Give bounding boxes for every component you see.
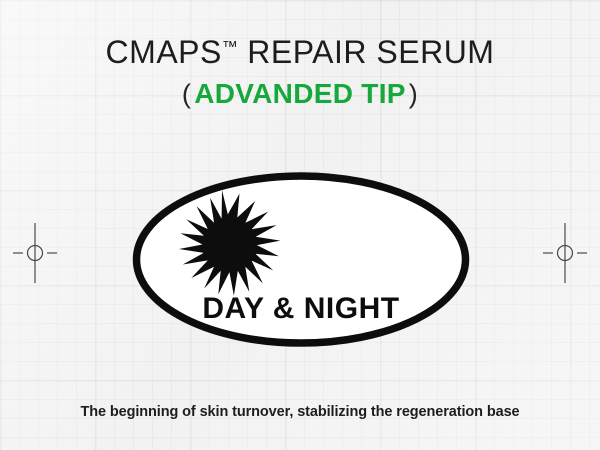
registration-mark-left: [13, 223, 57, 283]
subtitle-accent-text: ADVANDED TIP: [191, 78, 409, 109]
page-subtitle: (ADVANDED TIP): [0, 76, 600, 112]
page-title: CMAPS™ REPAIR SERUM: [0, 28, 600, 72]
poster-canvas: CMAPS™ REPAIR SERUM (ADVANDED TIP) DAY &…: [0, 0, 600, 450]
page-title-product: REPAIR SERUM: [238, 34, 495, 70]
day-and-night-emblem: DAY & NIGHT: [132, 172, 470, 347]
sun-core: [203, 218, 257, 272]
emblem-label: DAY & NIGHT: [202, 292, 399, 325]
registration-mark-right: [543, 223, 587, 283]
subtitle-open-paren: (: [182, 79, 191, 109]
trademark-symbol: ™: [222, 39, 238, 56]
registration-mark-left-icon: [13, 223, 57, 283]
page-title-brand: CMAPS: [106, 34, 222, 70]
registration-mark-right-icon: [543, 223, 587, 283]
subtitle-close-paren: ): [409, 79, 418, 109]
emblem-graphic: DAY & NIGHT: [132, 172, 470, 347]
footer-caption: The beginning of skin turnover, stabiliz…: [0, 402, 600, 422]
